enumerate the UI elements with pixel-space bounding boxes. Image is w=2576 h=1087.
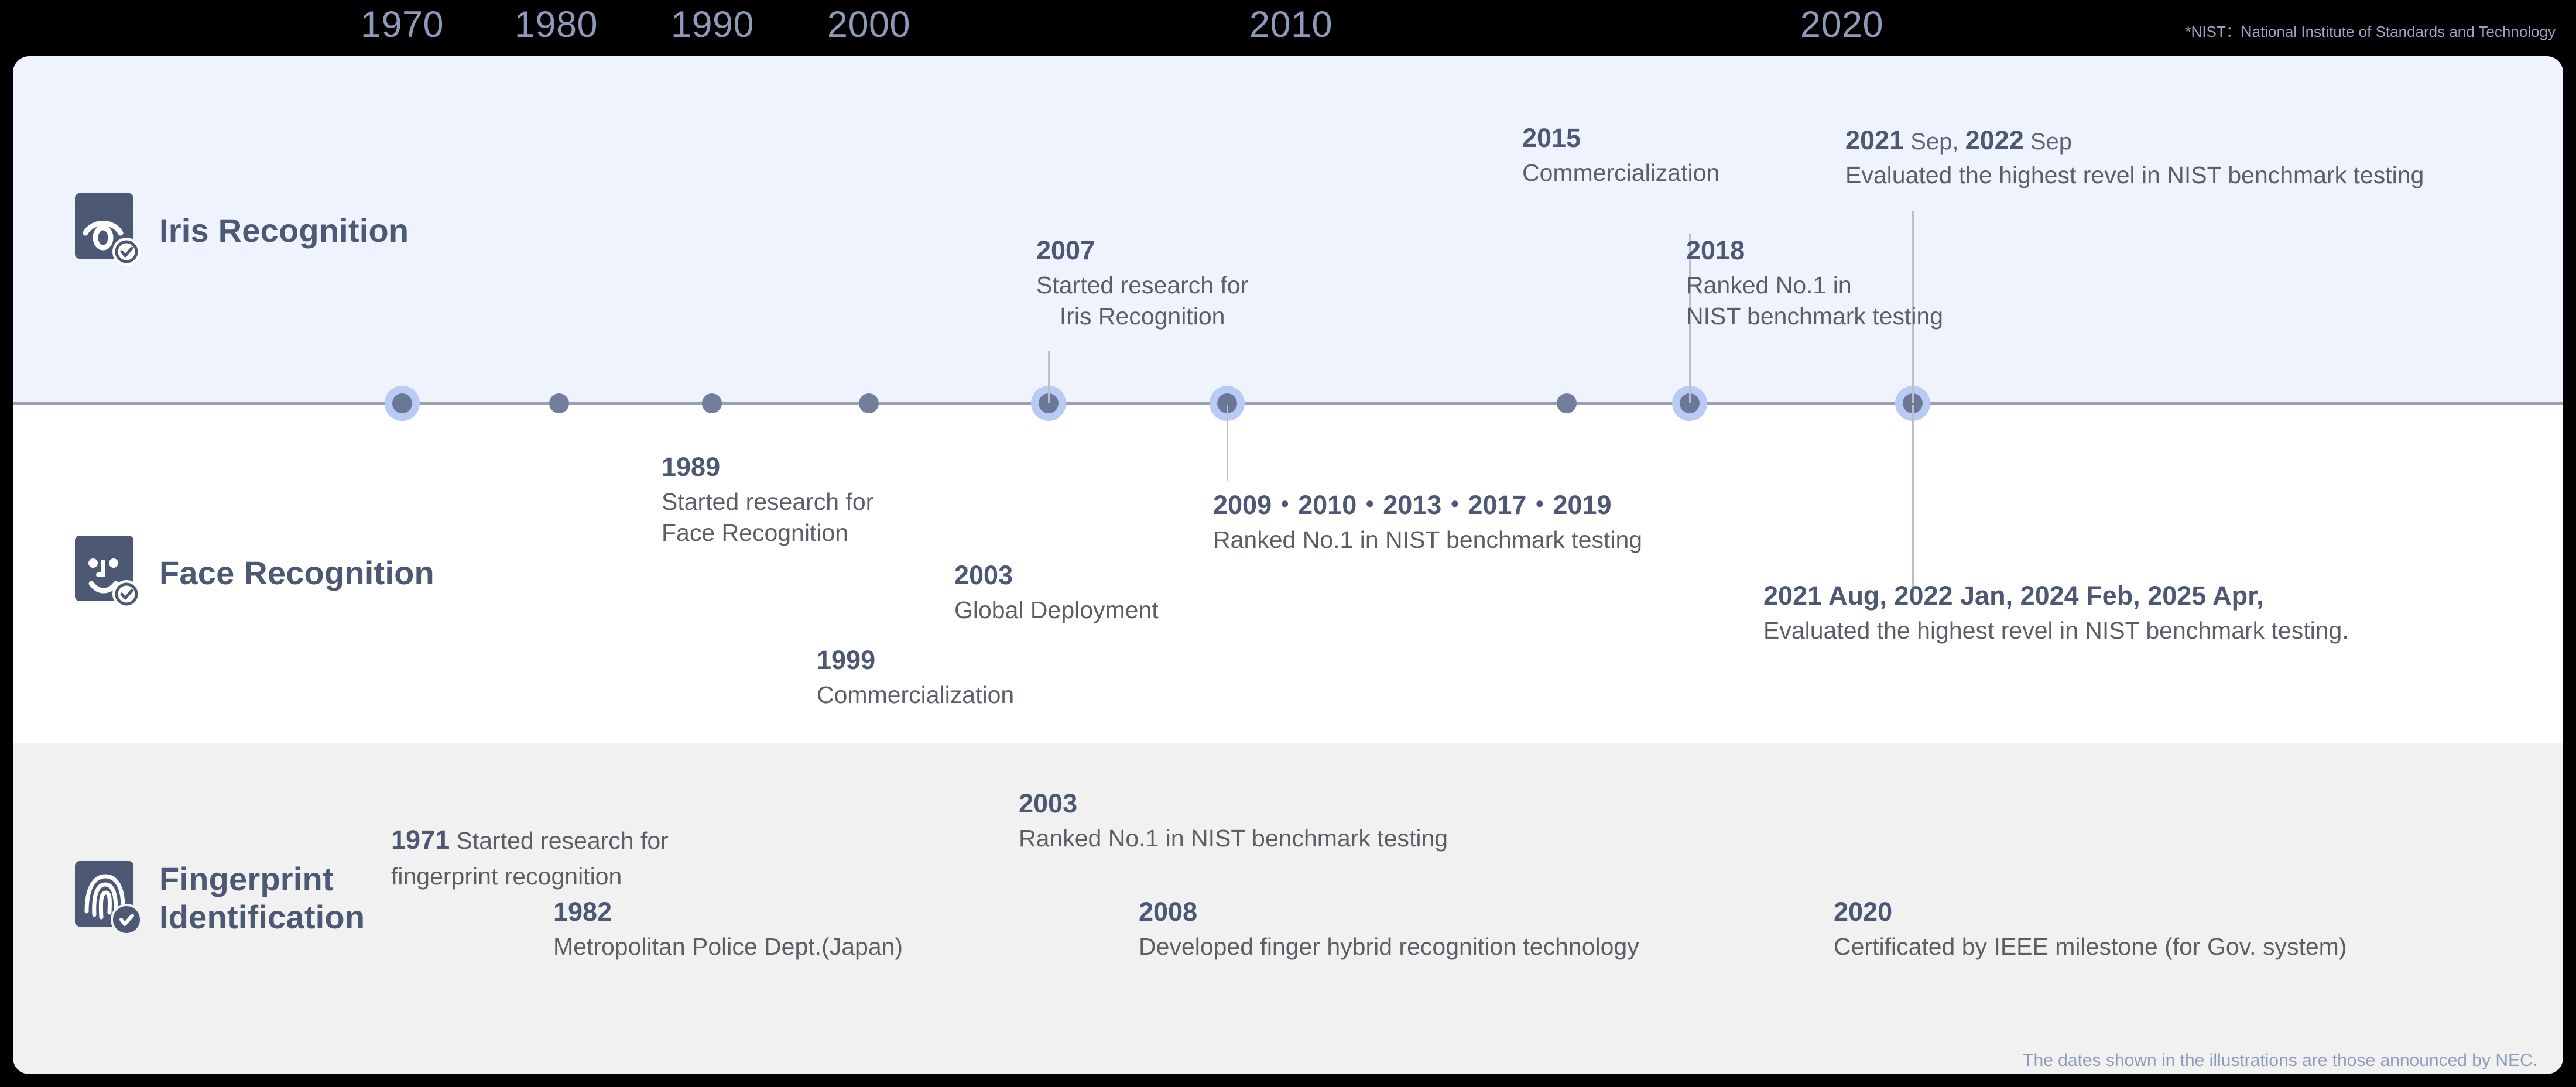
face-icon-glyph — [75, 536, 144, 611]
finger-event-1982: 1982 Metropolitan Police Dept.(Japan) — [553, 896, 903, 962]
timeline-dot-1982[interactable] — [549, 393, 569, 413]
connector-2009-face — [1227, 405, 1228, 481]
timeline-dot-2015[interactable] — [1557, 393, 1577, 413]
finger-event-2020-year: 2020 — [1834, 896, 2347, 928]
section-label-fingerprint: Fingerprint Identification — [75, 860, 365, 937]
face-event-1989-year: 1989 — [662, 451, 873, 484]
finger-event-2020: 2020 Certificated by IEEE milestone (for… — [1834, 896, 2347, 962]
timeline-header: 1970 1980 1990 2000 2010 2020 *NIST：Nati… — [0, 0, 2576, 56]
iris-icon — [75, 193, 144, 268]
iris-2021-y1: 2021 — [1845, 125, 1904, 155]
finger-event-2003-year: 2003 — [1019, 787, 1448, 820]
iris-event-2015: 2015 Commercialization — [1522, 122, 1719, 188]
face-event-2003-desc: Global Deployment — [954, 595, 1159, 626]
timeline-dot-1971[interactable] — [392, 393, 412, 413]
finger-1971-year: 1971 — [391, 825, 450, 855]
iris-2021-m1: Sep, — [1904, 129, 1965, 155]
section-title-iris: Iris Recognition — [159, 212, 409, 250]
connector-2007 — [1048, 351, 1050, 403]
face-event-1989-desc: Started research for Face Recognition — [662, 486, 873, 549]
iris-icon-glyph — [75, 193, 144, 268]
face-event-ranked-year: 2009・2010・2013・2017・2019 — [1213, 489, 1642, 522]
face-event-1989: 1989 Started research for Face Recogniti… — [662, 451, 873, 548]
decade-label-1970: 1970 — [361, 4, 444, 46]
section-title-face: Face Recognition — [159, 554, 434, 592]
finger-event-2003-desc: Ranked No.1 in NIST benchmark testing — [1019, 823, 1448, 854]
face-event-ranked: 2009・2010・2013・2017・2019 Ranked No.1 in … — [1213, 489, 1642, 555]
decade-label-2020: 2020 — [1800, 4, 1883, 46]
face-event-ranked-desc: Ranked No.1 in NIST benchmark testing — [1213, 524, 1642, 555]
face-event-2021-year: 2021 Aug, 2022 Jan, 2024 Feb, 2025 Apr, — [1763, 579, 2349, 612]
timeline-dot-1989[interactable] — [702, 393, 722, 413]
iris-2021-y2: 2022 — [1965, 125, 2024, 155]
finger-event-2008: 2008 Developed finger hybrid recognition… — [1139, 896, 1639, 962]
finger-event-1971-text: 1971 Started research for fingerprint re… — [391, 787, 669, 893]
iris-event-2007: 2007 Started research for Iris Recogniti… — [1036, 234, 1248, 332]
finger-event-1971: 1971 Started research for fingerprint re… — [391, 787, 669, 893]
finger-event-1982-desc: Metropolitan Police Dept.(Japan) — [553, 931, 903, 962]
section-label-iris: Iris Recognition — [75, 193, 409, 268]
footer-note: The dates shown in the illustrations are… — [2023, 1051, 2537, 1071]
iris-event-2015-year: 2015 — [1522, 122, 1719, 155]
face-event-2021: 2021 Aug, 2022 Jan, 2024 Feb, 2025 Apr, … — [1763, 579, 2349, 646]
infographic-frame: 1970 1980 1990 2000 2010 2020 *NIST：Nati… — [0, 0, 2576, 1087]
iris-event-2021-year: 2021 Sep, 2022 Sep — [1845, 124, 2424, 157]
section-title-fingerprint: Fingerprint Identification — [159, 860, 365, 937]
iris-event-2018-year: 2018 — [1686, 234, 1943, 267]
connector-2021-face — [1912, 405, 1914, 587]
iris-event-2021: 2021 Sep, 2022 Sep Evaluated the highest… — [1845, 124, 2424, 191]
iris-2021-m2: Sep — [2024, 129, 2072, 155]
decade-label-1980: 1980 — [515, 4, 598, 46]
nist-footnote: *NIST：National Institute of Standards an… — [2185, 20, 2556, 42]
timeline-dot-1999[interactable] — [859, 393, 879, 413]
iris-event-2018: 2018 Ranked No.1 in NIST benchmark testi… — [1686, 234, 1943, 332]
decade-label-2000: 2000 — [827, 4, 910, 46]
face-event-1999-desc: Commercialization — [817, 680, 1014, 711]
face-event-2003: 2003 Global Deployment — [954, 559, 1159, 626]
face-event-2021-desc: Evaluated the highest revel in NIST benc… — [1763, 615, 2349, 646]
iris-event-2021-desc: Evaluated the highest revel in NIST benc… — [1845, 160, 2424, 191]
face-icon — [75, 536, 144, 611]
iris-event-2018-desc: Ranked No.1 in NIST benchmark testing — [1686, 270, 1943, 332]
decade-label-1990: 1990 — [671, 4, 754, 46]
iris-event-2007-desc: Started research for Iris Recognition — [1036, 270, 1248, 332]
face-event-1999: 1999 Commercialization — [817, 644, 1014, 711]
section-label-face: Face Recognition — [75, 536, 434, 611]
decade-label-2010: 2010 — [1249, 4, 1332, 46]
finger-event-2008-desc: Developed finger hybrid recognition tech… — [1139, 931, 1639, 962]
iris-event-2015-desc: Commercialization — [1522, 157, 1719, 188]
finger-event-2008-year: 2008 — [1139, 896, 1639, 928]
finger-event-2003: 2003 Ranked No.1 in NIST benchmark testi… — [1019, 787, 1448, 854]
finger-event-1982-year: 1982 — [553, 896, 903, 928]
fingerprint-icon-glyph — [75, 861, 144, 936]
iris-event-2007-year: 2007 — [1036, 234, 1248, 267]
face-event-2003-year: 2003 — [954, 559, 1159, 592]
fingerprint-icon — [75, 861, 144, 936]
face-event-1999-year: 1999 — [817, 644, 1014, 677]
finger-event-2020-desc: Certificated by IEEE milestone (for Gov.… — [1834, 931, 2347, 962]
